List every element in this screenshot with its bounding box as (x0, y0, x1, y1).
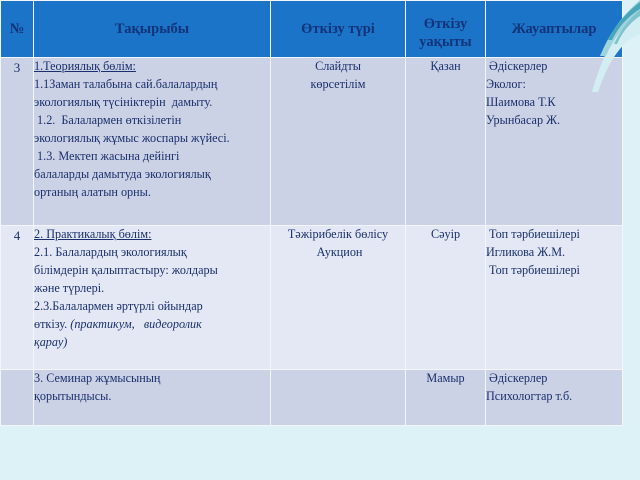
topic-line: 1.1Заман талабына сай.балалардың (34, 76, 270, 94)
topic-line: қарау) (34, 334, 270, 352)
topic-line: 1.3. Мектеп жасына дейінгі (34, 148, 270, 166)
table-header: № Тақырыбы Өткізу түрі Өткізу уақыты Жау… (1, 1, 623, 58)
cell-topic: 2. Практикалық бөлім:2.1. Балалардың эко… (34, 226, 271, 370)
responsible-line: Эколог: (486, 76, 622, 94)
cell-type: Слайдтыкөрсетілім (271, 58, 406, 226)
cell-time: Қазан (406, 58, 486, 226)
header-label-time: Өткізу уақыты (410, 15, 481, 51)
responsible-line: Әдіскерлер (486, 370, 622, 388)
cell-topic: 3. Семинар жұмысыныңқорытындысы. (34, 370, 271, 426)
topic-line: 1.Теориялық бөлім: (34, 58, 270, 76)
cell-type (271, 370, 406, 426)
topic-line: және түрлері. (34, 280, 270, 298)
header-label-topic: Тақырыбы (115, 20, 189, 38)
responsible-line: Психологтар т.б. (486, 388, 622, 406)
topic-line: 2.1. Балалардың экологиялық (34, 244, 270, 262)
topic-line: өткізу. (практикум, видеоролик (34, 316, 270, 334)
table-row: 3. Семинар жұмысыныңқорытындысы.Мамыр Әд… (1, 370, 623, 426)
topic-line: қорытындысы. (34, 388, 270, 406)
table-body: 31.Теориялық бөлім:1.1Заман талабына сай… (1, 58, 623, 426)
cell-number: 3 (1, 58, 34, 226)
responsible-line: Шаимова Т.К (486, 94, 622, 112)
type-line: Тәжірибелік бөлісу (271, 226, 405, 244)
cell-responsible: ӘдіскерлерПсихологтар т.б. (486, 370, 623, 426)
responsible-line: Урынбасар Ж. (486, 112, 622, 130)
topic-line: 2.3.Балалармен әртүрлі ойындар (34, 298, 270, 316)
topic-line: білімдерін қалыптастыру: жолдары (34, 262, 270, 280)
header-cell-responsible: Жауаптылар (486, 1, 623, 58)
responsible-line: Әдіскерлер (486, 58, 622, 76)
responsible-line: Игликова Ж.М. (486, 244, 622, 262)
responsible-line: Топ тәрбиешілері (486, 262, 622, 280)
topic-line: экологиялық түсініктерін дамыту. (34, 94, 270, 112)
type-line: Аукцион (271, 244, 405, 262)
cell-time: Сәуір (406, 226, 486, 370)
table-row: 42. Практикалық бөлім:2.1. Балалардың эк… (1, 226, 623, 370)
topic-line: 2. Практикалық бөлім: (34, 226, 270, 244)
cell-topic: 1.Теориялық бөлім:1.1Заман талабына сай.… (34, 58, 271, 226)
cell-number (1, 370, 34, 426)
time-line: Сәуір (406, 226, 485, 244)
topic-line: 3. Семинар жұмысының (34, 370, 270, 388)
header-cell-number: № (1, 1, 34, 58)
table-row: 31.Теориялық бөлім:1.1Заман талабына сай… (1, 58, 623, 226)
cell-responsible: ӘдіскерлерЭколог:Шаимова Т.КУрынбасар Ж. (486, 58, 623, 226)
header-label-number: № (10, 20, 25, 38)
topic-line: ортаның алатын орны. (34, 184, 270, 202)
cell-responsible: Топ тәрбиешілеріИгликова Ж.М. Топ тәрбие… (486, 226, 623, 370)
type-line: көрсетілім (271, 76, 405, 94)
topic-line: экологиялық жұмыс жоспары жүйесі. (34, 130, 270, 148)
cell-number: 4 (1, 226, 34, 370)
header-cell-topic: Тақырыбы (34, 1, 271, 58)
time-line: Қазан (406, 58, 485, 76)
cell-type: Тәжірибелік бөлісу Аукцион (271, 226, 406, 370)
header-label-responsible: Жауаптылар (512, 20, 597, 38)
header-cell-time: Өткізу уақыты (406, 1, 486, 58)
seminar-plan-table: № Тақырыбы Өткізу түрі Өткізу уақыты Жау… (0, 0, 623, 426)
time-line: Мамыр (406, 370, 485, 388)
table-header-row: № Тақырыбы Өткізу түрі Өткізу уақыты Жау… (1, 1, 623, 58)
header-label-type: Өткізу түрі (301, 20, 375, 38)
responsible-line: Топ тәрбиешілері (486, 226, 622, 244)
topic-line: балаларды дамытуда экологиялық (34, 166, 270, 184)
topic-line: 1.2. Балалармен өткізілетін (34, 112, 270, 130)
type-line: Слайдты (271, 58, 405, 76)
header-cell-type: Өткізу түрі (271, 1, 406, 58)
cell-time: Мамыр (406, 370, 486, 426)
